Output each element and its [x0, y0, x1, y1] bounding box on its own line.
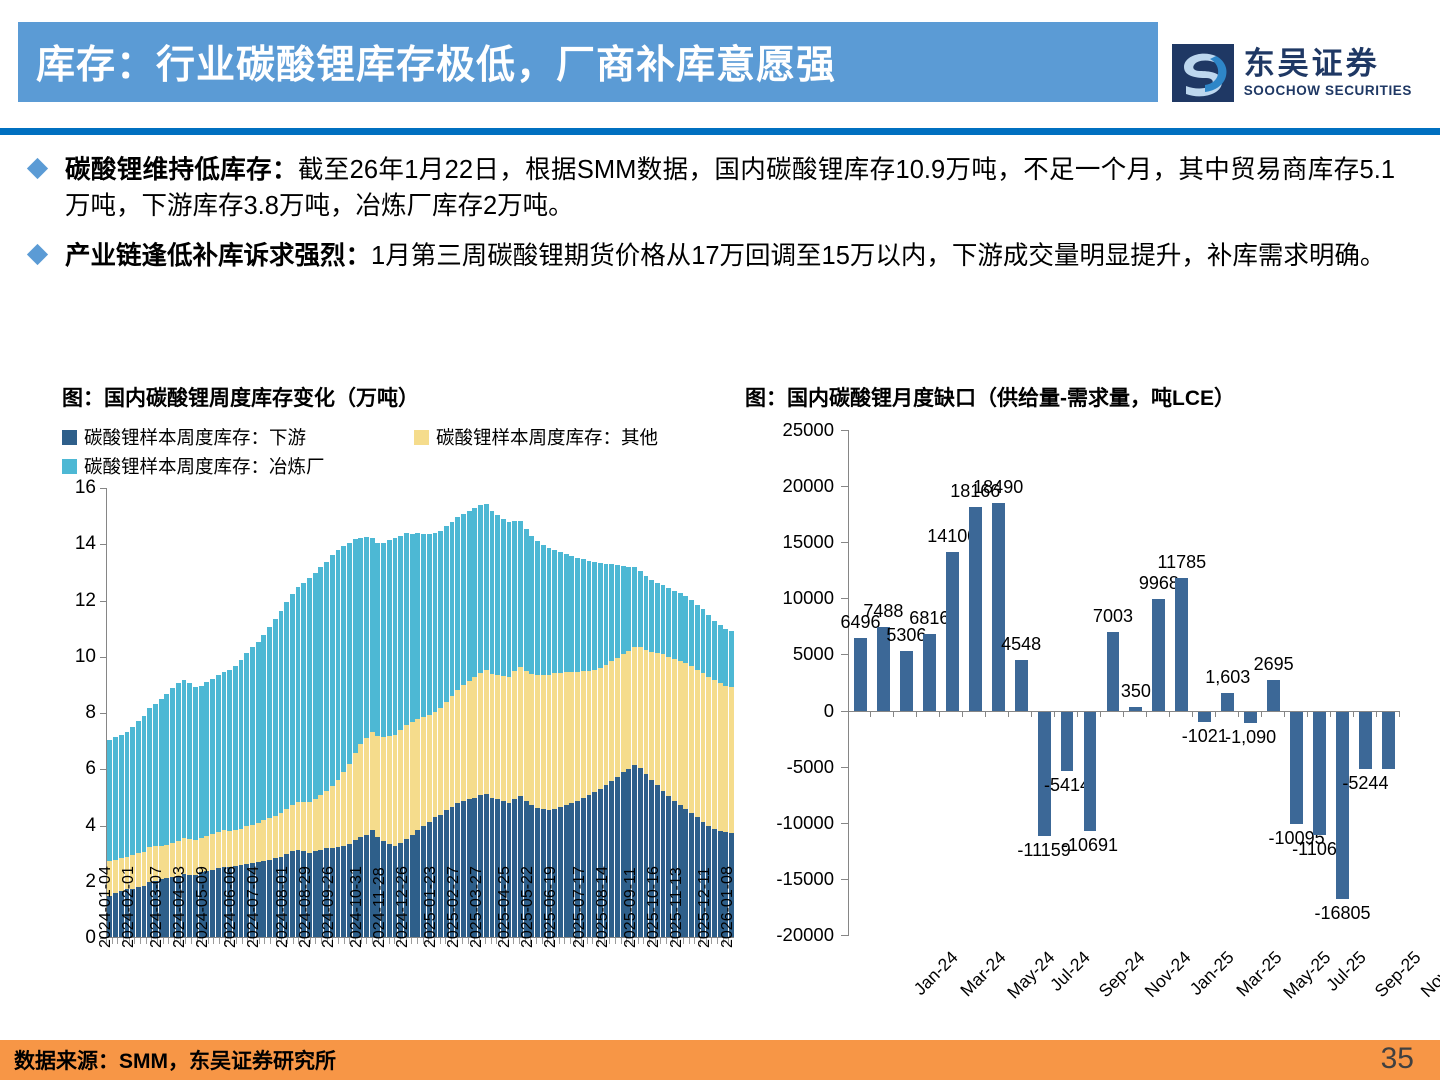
- legend-label: 碳酸锂样本周度库存：冶炼厂: [84, 453, 325, 479]
- bar-segment: [415, 830, 420, 937]
- bar-segment: [524, 529, 529, 671]
- bar-segment: [199, 686, 204, 838]
- bar-segment: [632, 567, 637, 647]
- x-tick-label: 2024-01-04: [97, 866, 115, 948]
- y-tick: [841, 879, 849, 880]
- y-tick-label: 14: [75, 533, 96, 555]
- bar-segment: [364, 738, 369, 835]
- bar-column: 6816: [918, 430, 941, 935]
- bar-column: 5306: [895, 430, 918, 935]
- bar-column: -5244: [1354, 430, 1377, 935]
- bar: [1107, 632, 1120, 711]
- bar-segment: [313, 799, 318, 851]
- bar-segment: [347, 764, 352, 844]
- bar-segment: [170, 688, 175, 843]
- x-tick-label: 2025-09-11: [622, 867, 640, 948]
- bar-segment: [444, 702, 449, 810]
- x-tick: [1377, 711, 1400, 717]
- bar-segment: [296, 802, 301, 850]
- bar-segment: [239, 660, 244, 829]
- y-tick-label: 10000: [783, 587, 834, 609]
- bar-segment: [256, 823, 261, 862]
- bar-segment: [467, 511, 472, 681]
- bar-column: -11159: [1033, 430, 1056, 935]
- logo-text: 东吴证券 SOOCHOW SECURITIES: [1244, 48, 1412, 98]
- bar-segment: [324, 562, 329, 791]
- bar-segment: [358, 538, 363, 745]
- x-tick-label: 2024-09-26: [320, 866, 338, 948]
- x-tick: [1216, 711, 1239, 717]
- bar-segment: [672, 591, 677, 659]
- bar-segment: [661, 654, 666, 790]
- bar-segment: [159, 699, 164, 845]
- right-chart-header: 图：国内碳酸锂月度缺口（供给量-需求量，吨LCE）: [745, 382, 1405, 412]
- bar-segment: [404, 533, 409, 724]
- y-tick-label: 0: [824, 700, 834, 722]
- bar: [969, 507, 982, 711]
- left-chart-header: 图：国内碳酸锂周度库存变化（万吨） 碳酸锂样本周度库存：下游 碳酸锂样本周度库存…: [62, 382, 732, 482]
- bar-segment: [723, 686, 728, 832]
- bar-segment: [142, 852, 147, 886]
- bar-segment: [626, 651, 631, 769]
- bar-segment: [182, 680, 187, 838]
- bar-segment: [210, 834, 215, 870]
- bar-segment: [701, 673, 706, 822]
- bar-segment: [575, 672, 580, 801]
- bar-segment: [507, 677, 512, 804]
- x-tick: [940, 711, 963, 717]
- y-tick-label: 15000: [783, 531, 834, 553]
- bar-segment: [490, 511, 495, 674]
- bar-segment: [353, 753, 358, 840]
- bar-segment: [484, 670, 489, 793]
- bar-segment: [119, 735, 124, 859]
- legend-item-other: 碳酸锂样本周度库存：其他: [414, 424, 658, 450]
- x-tick: [1262, 711, 1285, 717]
- bar-segment: [552, 673, 557, 809]
- bar-segment: [107, 740, 112, 861]
- bar-column: 1,603: [1216, 430, 1239, 935]
- bullet-text: 碳酸锂维持低库存：截至26年1月22日，根据SMM数据，国内碳酸锂库存10.9万…: [65, 152, 1395, 224]
- bar-segment: [535, 541, 540, 675]
- bar-segment: [222, 830, 227, 867]
- bar-segment: [609, 661, 614, 781]
- bar-column: -16805: [1331, 430, 1354, 935]
- bar-segment: [307, 578, 312, 802]
- bar: [1221, 693, 1234, 711]
- bar: [854, 638, 867, 711]
- bar-segment: [649, 652, 654, 780]
- right-chart-x-ticks: [848, 711, 1400, 717]
- x-tick-label: Jan-24: [909, 947, 962, 1000]
- bar-segment: [353, 539, 358, 753]
- bar-segment: [712, 621, 717, 680]
- bar-segment: [193, 687, 198, 840]
- bar-segment: [279, 813, 284, 857]
- bar-segment: [706, 615, 711, 677]
- bar-segment: [621, 566, 626, 655]
- y-tick: [100, 769, 107, 770]
- x-tick: [1170, 711, 1193, 717]
- bar-segment: [655, 653, 660, 785]
- bullet-item: 产业链逢低补库诉求强烈：1月第三周碳酸锂期货价格从17万回调至15万以内，下游成…: [30, 238, 1420, 274]
- bar-segment: [672, 659, 677, 801]
- bar-segment: [615, 658, 620, 777]
- right-chart-y-axis: 2500020000150001000050000-5000-10000-150…: [760, 430, 840, 940]
- bar-segment: [592, 670, 597, 792]
- bar-segment: [655, 583, 660, 653]
- x-tick-label: 2024-04-03: [171, 866, 189, 948]
- x-tick-label: 2024-07-04: [245, 866, 263, 948]
- bar-segment: [381, 737, 386, 842]
- bar-segment: [455, 517, 460, 690]
- bar-segment: [472, 677, 477, 798]
- y-tick-label: 6: [85, 758, 96, 780]
- bar-segment: [410, 722, 415, 835]
- bar-segment: [598, 563, 603, 668]
- bar-segment: [644, 576, 649, 649]
- x-tick: [848, 711, 871, 717]
- bar-segment: [307, 802, 312, 853]
- bar-column: 9968: [1147, 430, 1170, 935]
- x-tick: [1101, 711, 1124, 717]
- bar-segment: [507, 522, 512, 677]
- bar-segment: [592, 562, 597, 669]
- x-tick-label: Jul-24: [1045, 947, 1094, 996]
- bar-column: 6496: [849, 430, 872, 935]
- bar-segment: [358, 744, 363, 837]
- bar-segment: [501, 676, 506, 801]
- x-tick: [986, 711, 1009, 717]
- bar-segment: [541, 675, 546, 809]
- header-bar: 库存：行业碳酸锂库存极低，厂商补库意愿强: [18, 22, 1158, 102]
- bar-segment: [689, 666, 694, 813]
- bar-segment: [421, 534, 426, 717]
- x-tick-label: Nov-24: [1140, 947, 1195, 1002]
- x-tick-label: Mar-24: [956, 947, 1010, 1001]
- x-tick-label: 2025-02-27: [445, 866, 463, 948]
- x-tick-label: Jan-25: [1185, 947, 1238, 1000]
- bar-segment: [261, 635, 266, 821]
- bar-segment: [518, 521, 523, 667]
- bar-segment: [701, 609, 706, 673]
- bar-segment: [284, 602, 289, 809]
- bar-segment: [604, 564, 609, 665]
- y-tick-label: 12: [75, 590, 96, 612]
- x-tick: [1239, 711, 1262, 717]
- bar-segment: [290, 594, 295, 805]
- bar: [1015, 660, 1028, 711]
- bar-segment: [244, 826, 249, 864]
- left-chart-y-axis: 0246810121416: [62, 488, 96, 946]
- bullet-lead: 碳酸锂维持低库存：: [65, 156, 298, 184]
- bar-segment: [438, 708, 443, 814]
- bar-segment: [718, 683, 723, 831]
- bar-segment: [678, 593, 683, 661]
- bar-segment: [575, 558, 580, 672]
- x-tick-label: 2025-03-27: [468, 866, 486, 948]
- bar-segment: [370, 538, 375, 732]
- x-tick-label: 2025-07-17: [571, 866, 589, 948]
- bar-segment: [478, 505, 483, 672]
- y-tick: [841, 654, 849, 655]
- x-tick: [1055, 711, 1078, 717]
- bar-segment: [261, 820, 266, 861]
- x-tick: [1285, 711, 1308, 717]
- bar-segment: [495, 675, 500, 799]
- right-chart-title: 图：国内碳酸锂月度缺口（供给量-需求量，吨LCE）: [745, 382, 1405, 412]
- bar-segment: [216, 832, 221, 869]
- x-tick: [1032, 711, 1055, 717]
- bar-segment: [227, 831, 232, 868]
- bar-segment: [273, 816, 278, 858]
- bar-segment: [723, 629, 728, 686]
- bar-segment: [324, 791, 329, 849]
- bar-segment: [581, 671, 586, 798]
- legend-swatch: [414, 430, 429, 445]
- x-tick: [871, 711, 894, 717]
- x-tick-label: 2025-11-13: [668, 867, 686, 948]
- bar-segment: [718, 625, 723, 683]
- y-tick: [100, 544, 107, 545]
- bar-segment: [472, 508, 477, 677]
- legend-swatch: [62, 459, 77, 474]
- diamond-bullet-icon: [27, 158, 48, 179]
- bar-segment: [649, 580, 654, 652]
- bullet-body: 1月第三周碳酸锂期货价格从17万回调至15万以内，下游成交量明显提升，补库需求明…: [371, 242, 1385, 270]
- y-tick: [100, 826, 107, 827]
- logo-name-cn: 东吴证券: [1244, 48, 1412, 79]
- y-tick-label: 20000: [783, 475, 834, 497]
- bar-segment: [569, 672, 574, 803]
- bar-column: 11785: [1170, 430, 1193, 935]
- bar: [1313, 711, 1326, 835]
- y-tick-label: -15000: [776, 868, 834, 890]
- bar-segment: [433, 533, 438, 712]
- bar-segment: [626, 567, 631, 651]
- bar-segment: [427, 534, 432, 715]
- bar-segment: [541, 545, 546, 676]
- bar-segment: [547, 548, 552, 675]
- bar-segment: [729, 687, 734, 833]
- page-title: 库存：行业碳酸锂库存极低，厂商补库意愿强: [18, 34, 836, 90]
- bar-segment: [244, 653, 249, 826]
- right-chart-plot-area: 64967488530668161410018166184904548-1115…: [848, 430, 1400, 935]
- bar-segment: [398, 730, 403, 843]
- bar-segment: [438, 531, 443, 708]
- y-tick-label: 16: [75, 477, 96, 499]
- y-tick-label: 2: [85, 871, 96, 893]
- bar-segment: [512, 521, 517, 671]
- x-tick: [1147, 711, 1170, 717]
- y-tick: [841, 935, 849, 936]
- bar-segment: [370, 732, 375, 830]
- bar-segment: [695, 605, 700, 670]
- bar-segment: [233, 666, 238, 831]
- bar: [1267, 680, 1280, 710]
- bar: [900, 651, 913, 711]
- y-tick-label: 25000: [783, 419, 834, 441]
- bar-segment: [638, 647, 643, 768]
- y-tick-label: 5000: [793, 643, 834, 665]
- bar-segment: [564, 805, 569, 937]
- x-tick-label: 2024-05-09: [194, 866, 212, 948]
- bar-segment: [375, 543, 380, 736]
- y-tick: [841, 542, 849, 543]
- bar-segment: [284, 809, 289, 854]
- x-tick: [1331, 711, 1354, 717]
- bar: [1336, 711, 1349, 900]
- bar-segment: [666, 657, 671, 796]
- bar: [1038, 711, 1051, 836]
- bar-segment: [393, 735, 398, 846]
- x-tick: [1124, 711, 1147, 717]
- bar-segment: [581, 559, 586, 671]
- bar-segment: [330, 555, 335, 786]
- bar-segment: [661, 585, 666, 655]
- x-tick-label: 2024-03-07: [148, 866, 166, 948]
- bar-segment: [644, 650, 649, 774]
- x-tick: [1078, 711, 1101, 717]
- bar-segment: [210, 679, 215, 834]
- x-tick-label: 2024-02-01: [120, 866, 138, 948]
- x-tick-label: Mar-25: [1232, 947, 1286, 1001]
- bar-column: [1377, 430, 1400, 935]
- bar-segment: [490, 798, 495, 937]
- bar-segment: [176, 683, 181, 841]
- bar: [946, 552, 959, 710]
- bar-segment: [387, 736, 392, 844]
- x-tick-label: 2024-12-26: [394, 866, 412, 948]
- y-tick: [841, 430, 849, 431]
- bar-segment: [216, 675, 221, 831]
- bar-segment: [410, 534, 415, 722]
- bar-segment: [187, 683, 192, 839]
- bar-segment: [587, 671, 592, 795]
- bar-segment: [136, 721, 141, 853]
- x-tick-label: 2025-10-16: [645, 866, 663, 948]
- x-tick-label: 2025-04-25: [496, 866, 514, 948]
- bar-segment: [267, 818, 272, 860]
- x-tick-label: Sep-24: [1094, 947, 1149, 1002]
- bullet-lead: 产业链逢低补库诉求强烈：: [65, 242, 371, 270]
- soochow-logo-mark: [1172, 44, 1234, 102]
- bar-segment: [341, 846, 346, 937]
- bar-segment: [393, 538, 398, 735]
- bar-segment: [153, 704, 158, 846]
- bar-segment: [421, 717, 426, 826]
- bar-column: -5414: [1056, 430, 1079, 935]
- diamond-bullet-icon: [27, 244, 48, 265]
- y-tick: [100, 488, 107, 489]
- bar-segment: [364, 537, 369, 738]
- bar-column: -10691: [1079, 430, 1102, 935]
- bar-segment: [683, 663, 688, 809]
- bar-segment: [318, 567, 323, 795]
- y-tick-label: -10000: [776, 812, 834, 834]
- bar-segment: [615, 565, 620, 658]
- bullet-text: 产业链逢低补库诉求强烈：1月第三周碳酸锂期货价格从17万回调至15万以内，下游成…: [65, 238, 1395, 274]
- x-tick-label: 2025-12-11: [696, 867, 714, 948]
- bar-column: -1,090: [1239, 430, 1262, 935]
- bar-segment: [461, 514, 466, 686]
- x-tick-label: 2024-11-28: [371, 867, 389, 948]
- bar-segment: [313, 573, 318, 799]
- bar-segment: [415, 533, 420, 719]
- bar-segment: [301, 583, 306, 802]
- bar-column: 14100: [941, 430, 964, 935]
- bar-segment: [433, 712, 438, 817]
- bar-segment: [427, 715, 432, 822]
- y-tick-label: 10: [75, 646, 96, 668]
- bar-segment: [729, 631, 734, 687]
- bar-segment: [450, 696, 455, 807]
- bar-segment: [518, 667, 523, 796]
- bar-segment: [609, 564, 614, 661]
- bar: [1382, 711, 1395, 770]
- bar-column: 350: [1124, 430, 1147, 935]
- bar-segment: [256, 642, 261, 823]
- bar-segment: [706, 677, 711, 826]
- bar-segment: [404, 725, 409, 839]
- bar-segment: [558, 552, 563, 673]
- bar-column: 18166: [964, 430, 987, 935]
- bar-segment: [490, 674, 495, 798]
- bar-segment: [695, 670, 700, 818]
- bar-segment: [336, 780, 341, 848]
- left-chart-title: 图：国内碳酸锂周度库存变化（万吨）: [62, 382, 732, 412]
- bullet-item: 碳酸锂维持低库存：截至26年1月22日，根据SMM数据，国内碳酸锂库存10.9万…: [30, 152, 1420, 224]
- bar-segment: [227, 670, 232, 830]
- bar-segment: [501, 519, 506, 677]
- x-tick-label: 2025-05-22: [519, 866, 537, 948]
- bar-segment: [296, 587, 301, 802]
- bar-segment: [495, 515, 500, 675]
- x-tick-label: 2024-08-29: [297, 866, 315, 948]
- bar-segment: [113, 737, 118, 859]
- bar: [1061, 711, 1074, 772]
- bar-segment: [375, 736, 380, 837]
- bar-segment: [478, 673, 483, 795]
- x-tick: [894, 711, 917, 717]
- legend-item-smelter: 碳酸锂样本周度库存：冶炼厂: [62, 453, 325, 479]
- bar-segment: [529, 536, 534, 674]
- bar: [923, 634, 936, 710]
- bar-segment: [330, 786, 335, 848]
- legend-item-downstream: 碳酸锂样本周度库存：下游: [62, 424, 414, 450]
- x-tick-label: 2026-01-08: [719, 866, 737, 948]
- y-tick: [841, 823, 849, 824]
- bar-segment: [569, 556, 574, 672]
- y-tick-label: -20000: [776, 924, 834, 946]
- header-divider: [0, 128, 1440, 135]
- x-tick-label: 2024-10-31: [348, 866, 366, 948]
- x-tick: [1308, 711, 1331, 717]
- bar-column: 7488: [872, 430, 895, 935]
- bar-segment: [512, 671, 517, 799]
- bar-segment: [301, 802, 306, 851]
- bar-segment: [267, 627, 272, 818]
- bar-segment: [318, 795, 323, 850]
- bar-segment: [267, 860, 272, 937]
- bar: [1359, 711, 1372, 770]
- bar: [1175, 578, 1188, 710]
- bar-segment: [450, 522, 455, 696]
- bar-segment: [387, 540, 392, 735]
- bar-segment: [547, 675, 552, 810]
- bar-segment: [564, 672, 569, 805]
- right-chart-x-axis: Jan-24Mar-24May-24Jul-24Sep-24Nov-24Jan-…: [848, 941, 1400, 1041]
